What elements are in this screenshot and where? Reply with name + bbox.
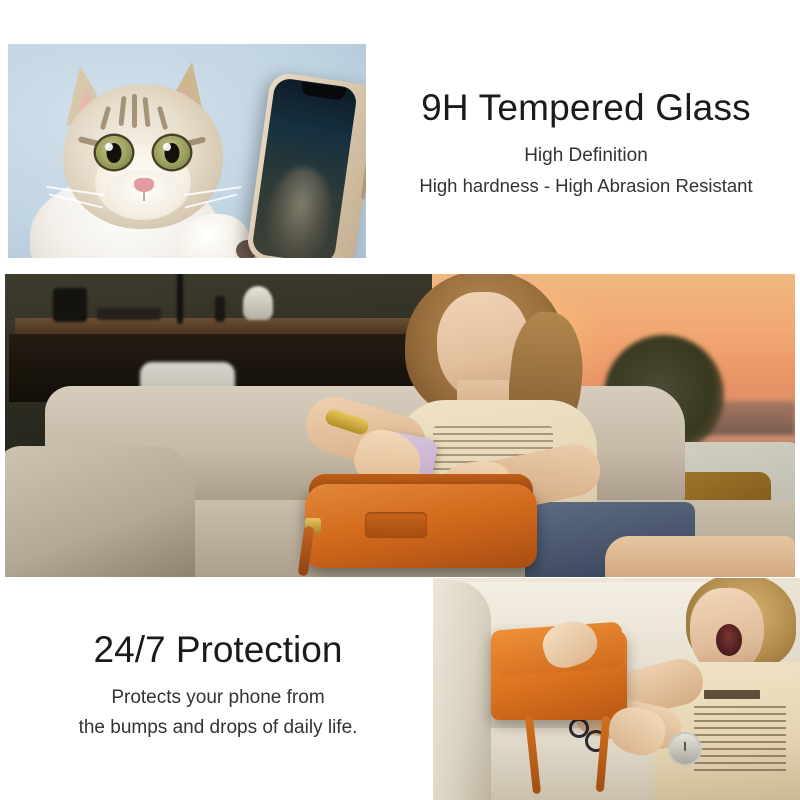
- woman-leg: [605, 536, 795, 577]
- protection-headline: 24/7 Protection: [18, 630, 418, 671]
- cat-nose: [134, 178, 154, 192]
- shelf-post: [177, 274, 183, 324]
- phone-side-button: [361, 159, 366, 199]
- woman-open-mouth: [716, 624, 742, 656]
- protection-subtitle-1: Protects your phone from: [18, 687, 418, 709]
- protection-text-block: 24/7 Protection Protects your phone from…: [18, 630, 418, 739]
- shelf-object: [53, 288, 87, 322]
- eye-glint: [163, 143, 171, 151]
- sofa-armrest: [5, 446, 195, 577]
- shelf-vase: [243, 286, 273, 320]
- tempered-glass-text-block: 9H Tempered Glass High Definition High h…: [380, 88, 792, 197]
- cat-right-eye: [154, 136, 190, 169]
- tempered-glass-subtitle-2: High hardness - High Abrasion Resistant: [380, 175, 792, 197]
- protection-subtitle-2: the bumps and drops of daily life.: [18, 717, 418, 739]
- cat-mouth: [143, 192, 145, 201]
- woman-putting-phone-in-handbag-photo: [5, 274, 795, 577]
- shelf-object: [97, 308, 161, 320]
- wristwatch: [670, 734, 700, 764]
- tank-top-print-title: [704, 690, 760, 699]
- phone-screen: [251, 77, 358, 258]
- cat-left-eye: [96, 136, 132, 169]
- eye-glint: [105, 143, 113, 151]
- cat-stripe: [132, 94, 137, 128]
- product-marketing-poster: 9H Tempered Glass High Definition High h…: [0, 0, 800, 800]
- sofa-armrest: [433, 580, 491, 800]
- cat-touching-phone-photo: [8, 44, 366, 258]
- tempered-glass-headline: 9H Tempered Glass: [380, 88, 792, 129]
- handbag-front-pocket: [365, 512, 427, 538]
- tempered-glass-subtitle-1: High Definition: [380, 145, 792, 167]
- woman-shocked-at-bag-contents-photo: [433, 578, 800, 800]
- tank-top-print: [694, 706, 786, 774]
- shelf-object: [215, 296, 225, 322]
